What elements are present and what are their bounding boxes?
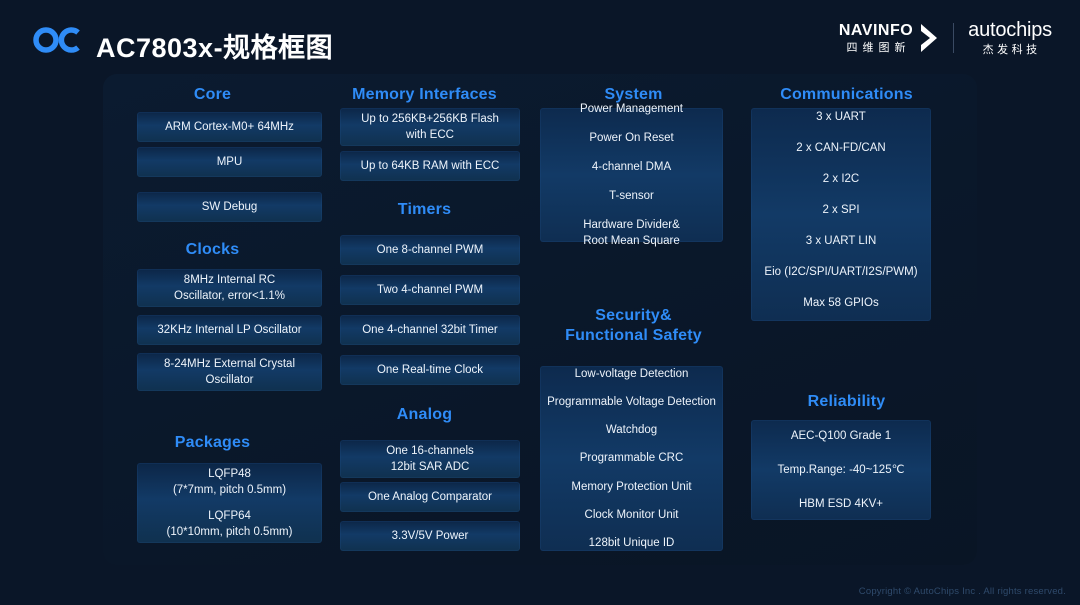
section-title-timers: Timers	[322, 200, 527, 220]
section-title-packages: Packages	[103, 433, 322, 453]
section-title-memory-interfaces: Memory Interfaces	[322, 85, 527, 105]
card-core-1: MPU	[137, 147, 322, 177]
navinfo-logo-cn: 四维图新	[847, 43, 911, 54]
card-memory-1: Up to 64KB RAM with ECC	[340, 151, 520, 181]
card-analog-1: One Analog Comparator	[340, 482, 520, 512]
section-title-security: Security& Functional Safety	[527, 306, 740, 346]
column-system: System Power Management Power On Reset 4…	[527, 74, 740, 565]
autochips-logo-en: autochips	[968, 20, 1052, 40]
panel-reliability: AEC-Q100 Grade 1 Temp.Range: -40~125℃ HB…	[751, 420, 931, 520]
column-core: Core ARM Cortex-M0+ 64MHz MPU SW Debug C…	[103, 74, 322, 565]
card-analog-0: One 16-channels 12bit SAR ADC	[340, 440, 520, 478]
security-row-2: Watchdog	[606, 422, 657, 438]
comms-row-5: Eio (I2C/SPI/UART/I2S/PWM)	[764, 264, 917, 280]
comms-row-1: 2 x CAN-FD/CAN	[796, 140, 885, 156]
system-row-4: Hardware Divider& Root Mean Square	[583, 217, 680, 249]
card-timers-2: One 4-channel 32bit Timer	[340, 315, 520, 345]
navinfo-logo: NAVINFO 四维图新	[839, 23, 939, 54]
page-header: AC7803x-规格框图 NAVINFO 四维图新 autochips 杰发科技	[0, 0, 1080, 74]
comms-row-2: 2 x I2C	[823, 171, 859, 187]
page-title: AC7803x-规格框图	[96, 26, 333, 65]
panel-security: Low-voltage Detection Programmable Volta…	[540, 366, 723, 551]
brand-divider	[953, 23, 954, 53]
card-memory-0: Up to 256KB+256KB Flash with ECC	[340, 108, 520, 146]
section-title-core: Core	[103, 85, 322, 105]
comms-row-3: 2 x SPI	[822, 202, 859, 218]
comms-row-4: 3 x UART LIN	[806, 233, 877, 249]
section-title-reliability: Reliability	[740, 392, 953, 412]
card-core-2: SW Debug	[137, 192, 322, 222]
copyright-text: Copyright © AutoChips Inc . All rights r…	[859, 586, 1066, 597]
reliability-row-2: HBM ESD 4KV+	[799, 496, 883, 512]
card-core-0: ARM Cortex-M0+ 64MHz	[137, 112, 322, 142]
section-title-clocks: Clocks	[103, 240, 322, 260]
security-row-1: Programmable Voltage Detection	[547, 394, 716, 410]
security-row-6: 128bit Unique ID	[589, 535, 675, 551]
card-analog-2: 3.3V/5V Power	[340, 521, 520, 551]
navinfo-logo-en: NAVINFO	[839, 23, 913, 39]
security-row-3: Programmable CRC	[580, 450, 684, 466]
system-row-0: Power Management	[580, 101, 683, 117]
section-title-analog: Analog	[322, 405, 527, 425]
panel-communications: 3 x UART 2 x CAN-FD/CAN 2 x I2C 2 x SPI …	[751, 108, 931, 321]
column-communications: Communications 3 x UART 2 x CAN-FD/CAN 2…	[740, 74, 953, 565]
card-clocks-2: 8-24MHz External Crystal Oscillator	[137, 353, 322, 391]
column-memory: Memory Interfaces Up to 256KB+256KB Flas…	[322, 74, 527, 565]
card-clocks-1: 32KHz Internal LP Oscillator	[137, 315, 322, 345]
security-row-5: Clock Monitor Unit	[585, 507, 679, 523]
security-row-4: Memory Protection Unit	[571, 479, 691, 495]
comms-row-6: Max 58 GPIOs	[803, 295, 878, 311]
section-title-communications: Communications	[740, 85, 953, 105]
system-row-3: T-sensor	[609, 188, 654, 204]
reliability-row-0: AEC-Q100 Grade 1	[791, 428, 891, 444]
panel-system: Power Management Power On Reset 4-channe…	[540, 108, 723, 242]
card-clocks-0: 8MHz Internal RC Oscillator, error<1.1%	[137, 269, 322, 307]
system-row-2: 4-channel DMA	[592, 159, 671, 175]
autochips-logo-cn: 杰发科技	[983, 45, 1041, 56]
card-timers-3: One Real-time Clock	[340, 355, 520, 385]
comms-row-0: 3 x UART	[816, 109, 866, 125]
block-diagram-board: Core ARM Cortex-M0+ 64MHz MPU SW Debug C…	[103, 74, 977, 565]
card-timers-0: One 8-channel PWM	[340, 235, 520, 265]
reliability-row-1: Temp.Range: -40~125℃	[777, 462, 904, 478]
chevron-right-icon	[919, 23, 939, 53]
system-row-1: Power On Reset	[589, 130, 673, 146]
card-timers-1: Two 4-channel PWM	[340, 275, 520, 305]
security-row-0: Low-voltage Detection	[575, 366, 689, 382]
autochips-logo: autochips 杰发科技	[968, 20, 1052, 56]
brand-logos: NAVINFO 四维图新 autochips 杰发科技	[839, 20, 1052, 56]
card-packages-0: LQFP48 (7*7mm, pitch 0.5mm) LQFP64 (10*1…	[137, 463, 322, 543]
oc-logo-icon	[33, 26, 81, 54]
